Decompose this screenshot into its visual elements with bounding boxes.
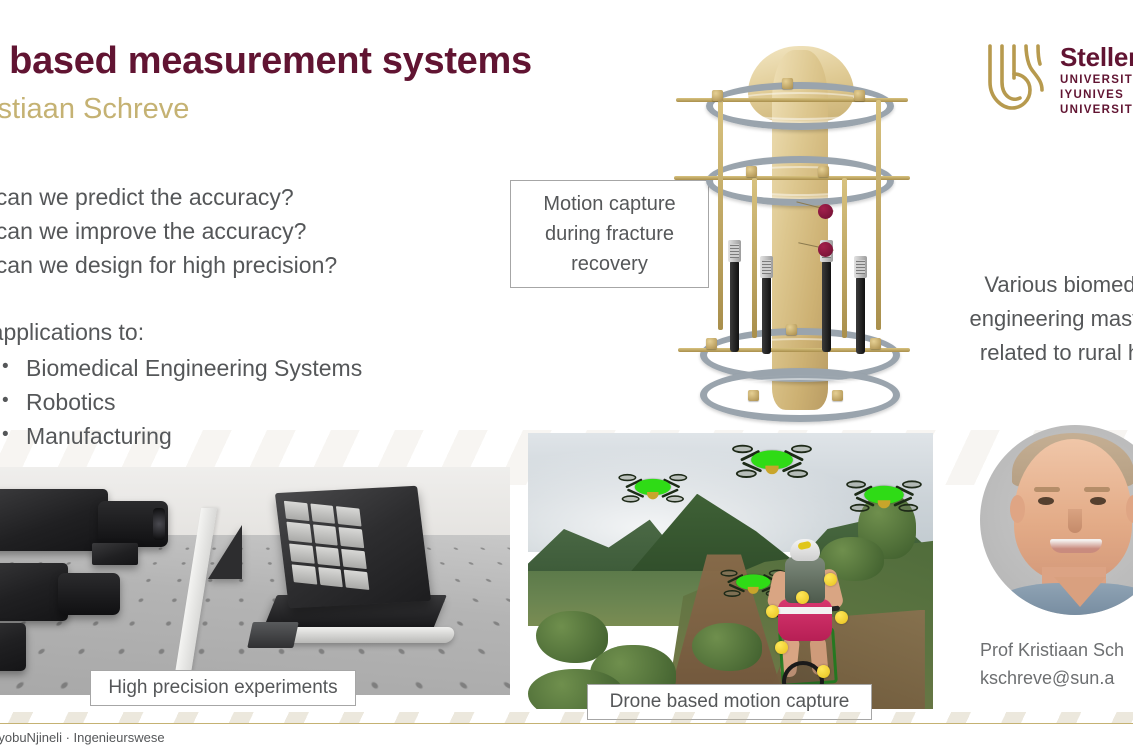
transverse-rod-1 bbox=[676, 98, 908, 102]
logo-name: Stellen bbox=[1060, 42, 1133, 73]
bolt bbox=[832, 390, 843, 401]
tracking-marker-dot bbox=[818, 242, 833, 257]
caption-high-precision-experiments: High precision experiments bbox=[90, 670, 356, 706]
logo-line-afrikaans: UNIVERSIT bbox=[1060, 103, 1133, 118]
page-subtitle: f Kristiaan Schreve bbox=[0, 93, 646, 126]
bolt bbox=[706, 338, 717, 349]
presentation-slide: sion based measurement systems f Kristia… bbox=[0, 0, 1133, 753]
bolt bbox=[746, 166, 757, 177]
bolt bbox=[854, 90, 865, 101]
list-item: Biomedical Engineering Systems bbox=[0, 351, 480, 385]
bolt bbox=[748, 390, 759, 401]
photo-high-precision-lab bbox=[0, 467, 510, 695]
strut-2 bbox=[762, 276, 771, 354]
contact-name: Prof Kristiaan Sch bbox=[980, 636, 1124, 664]
tracking-marker bbox=[796, 591, 809, 604]
list-item: Robotics bbox=[0, 385, 480, 419]
strut-adjuster-4 bbox=[854, 256, 867, 278]
fixator-ring-2 bbox=[706, 156, 894, 206]
caption-line-1: Motion capture bbox=[521, 189, 698, 219]
right-text-line-3: related to rural h bbox=[900, 336, 1133, 370]
transverse-rod-2 bbox=[674, 176, 910, 180]
caption-drone-motion-capture: Drone based motion capture bbox=[587, 684, 872, 720]
contact-email[interactable]: kschreve@sun.a bbox=[980, 664, 1124, 692]
question-1: ow can we predict the accuracy? bbox=[0, 180, 480, 214]
ear-left bbox=[1010, 495, 1025, 523]
eyebrow-left bbox=[1034, 487, 1060, 492]
micrometer bbox=[282, 627, 455, 643]
page-title: sion based measurement systems bbox=[0, 40, 782, 83]
eye-left bbox=[1038, 497, 1054, 505]
bolt bbox=[870, 338, 881, 349]
list-item: Manufacturing bbox=[0, 419, 480, 453]
university-logo: Stellen UNIVERSIT IYUNIVES UNIVERSIT bbox=[982, 40, 1133, 140]
strut-1 bbox=[730, 260, 739, 352]
calibration-target-fixture bbox=[275, 486, 431, 609]
body-text-block: ow can we predict the accuracy? ow can w… bbox=[0, 180, 480, 453]
fixator-ring-4 bbox=[700, 368, 900, 422]
ilizarov-fixator-illustration bbox=[690, 38, 910, 423]
bolt bbox=[782, 78, 793, 89]
footer-stripe-pattern bbox=[0, 712, 1133, 723]
gauge-block-grid bbox=[284, 501, 370, 590]
stellenbosch-swirl-icon bbox=[982, 40, 1048, 114]
caption-line-3: recovery bbox=[521, 249, 698, 279]
mouth bbox=[1050, 539, 1102, 553]
tracking-marker-dot bbox=[818, 204, 833, 219]
vertical-rod-mid-right bbox=[842, 178, 847, 338]
logo-line-english: UNIVERSIT bbox=[1060, 73, 1133, 88]
cyclist-shorts bbox=[778, 599, 832, 641]
vertical-rod-right bbox=[876, 100, 881, 330]
bush bbox=[692, 623, 762, 671]
photo-drone-motion-capture bbox=[528, 433, 933, 709]
question-2: ow can we improve the accuracy? bbox=[0, 214, 480, 248]
dslr-camera-3 bbox=[0, 623, 26, 671]
strut-adjuster-1 bbox=[728, 240, 741, 262]
text-spacer bbox=[0, 282, 480, 315]
dslr-camera-1 bbox=[0, 489, 108, 551]
avatar bbox=[980, 425, 1133, 615]
applications-intro: ith applications to: bbox=[0, 315, 480, 349]
applications-list: Biomedical Engineering Systems Robotics … bbox=[0, 351, 480, 453]
contact-block: Prof Kristiaan Sch kschreve@sun.a bbox=[980, 636, 1124, 692]
camera-lens-1 bbox=[98, 501, 168, 547]
caption-motion-capture-fracture: Motion capture during fracture recovery bbox=[510, 180, 709, 288]
tracking-marker bbox=[775, 641, 788, 654]
tracking-marker bbox=[766, 605, 779, 618]
caption-line-2: during fracture bbox=[521, 219, 698, 249]
shirt bbox=[988, 583, 1133, 615]
bolt bbox=[818, 166, 829, 177]
bush bbox=[536, 611, 608, 663]
tracking-marker bbox=[817, 665, 830, 678]
cyclist-helmet bbox=[790, 539, 820, 561]
eye-right bbox=[1090, 497, 1106, 505]
strut-4 bbox=[856, 276, 865, 354]
bolt bbox=[712, 90, 723, 101]
eyebrow-right bbox=[1084, 487, 1110, 492]
nose bbox=[1068, 509, 1082, 533]
right-column-text: Various biomed engineering maste related… bbox=[900, 268, 1133, 370]
vertical-rod-mid-left bbox=[752, 178, 757, 338]
mounting-wedge bbox=[208, 525, 242, 579]
right-text-line-2: engineering maste bbox=[900, 302, 1133, 336]
bolt bbox=[786, 324, 797, 335]
footer-text: eering · EyobuNjineli · Ingenieurswese bbox=[0, 730, 165, 745]
fixator-ring-1 bbox=[706, 82, 894, 130]
strut-adjuster-2 bbox=[760, 256, 773, 278]
tracking-marker bbox=[835, 611, 848, 624]
camera-lens-2 bbox=[58, 573, 120, 615]
strut-3 bbox=[822, 260, 831, 352]
logo-wordmark: Stellen UNIVERSIT IYUNIVES UNIVERSIT bbox=[1060, 42, 1133, 118]
vertical-rod-left bbox=[718, 100, 723, 330]
camera-mount bbox=[92, 543, 138, 565]
footer-divider bbox=[0, 723, 1133, 724]
right-text-line-1: Various biomed bbox=[900, 268, 1133, 302]
tracking-marker bbox=[824, 573, 837, 586]
question-3: ow can we design for high precision? bbox=[0, 248, 480, 282]
logo-line-xhosa: IYUNIVES bbox=[1060, 88, 1133, 103]
